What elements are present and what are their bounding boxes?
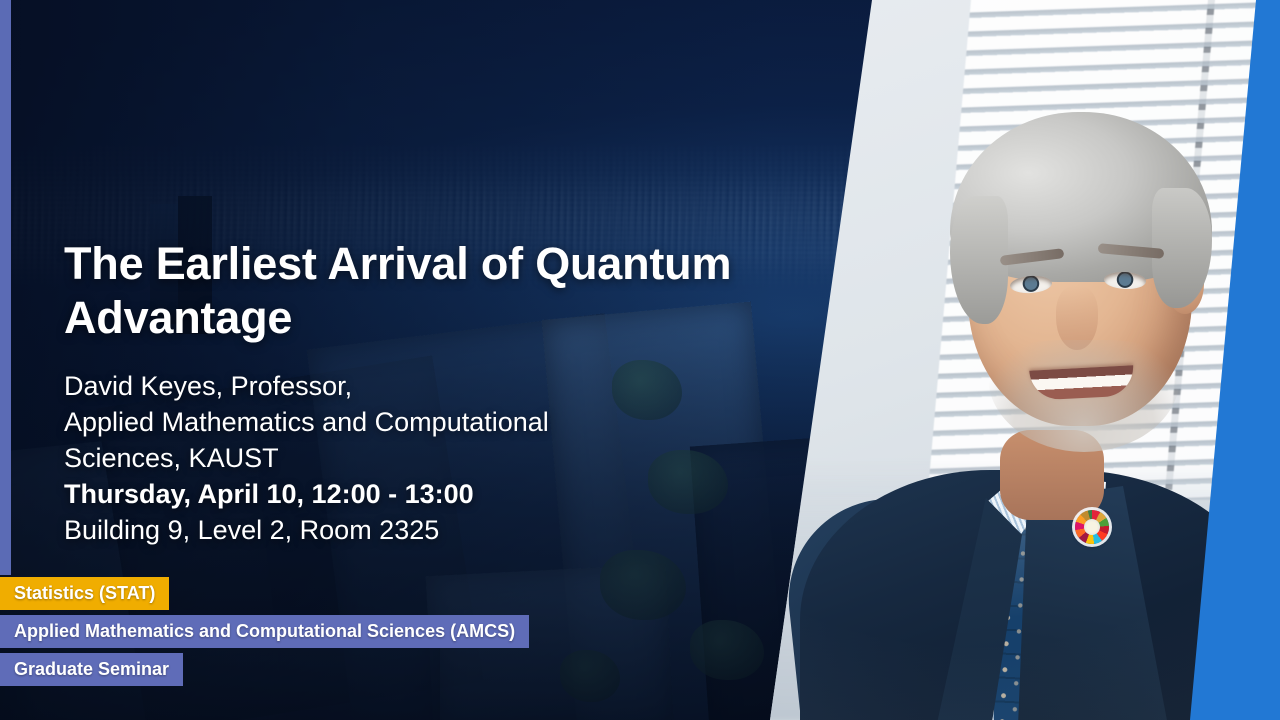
speaker-name: David Keyes, Professor, — [64, 368, 764, 404]
affiliation-line-2: Sciences, KAUST — [64, 440, 764, 476]
tag-row-grad: Graduate Seminar — [0, 653, 529, 686]
tag-statistics[interactable]: Statistics (STAT) — [0, 577, 169, 610]
sdg-wheel-pin-icon — [1075, 510, 1109, 544]
seminar-announcement-slide: The Earliest Arrival of Quantum Advantag… — [0, 0, 1280, 720]
tag-amcs[interactable]: Applied Mathematics and Computational Sc… — [0, 615, 529, 648]
slide-content: The Earliest Arrival of Quantum Advantag… — [0, 0, 800, 720]
seminar-title: The Earliest Arrival of Quantum Advantag… — [64, 237, 764, 345]
affiliation-line-1: Applied Mathematics and Computational — [64, 404, 764, 440]
tag-graduate-seminar[interactable]: Graduate Seminar — [0, 653, 183, 686]
seminar-details: David Keyes, Professor, Applied Mathemat… — [64, 368, 764, 548]
seminar-location: Building 9, Level 2, Room 2325 — [64, 512, 764, 548]
tag-list: Statistics (STAT) Applied Mathematics an… — [0, 577, 529, 691]
tag-row-stat: Statistics (STAT) — [0, 577, 529, 610]
seminar-datetime: Thursday, April 10, 12:00 - 13:00 — [64, 476, 764, 512]
tag-row-amcs: Applied Mathematics and Computational Sc… — [0, 615, 529, 648]
